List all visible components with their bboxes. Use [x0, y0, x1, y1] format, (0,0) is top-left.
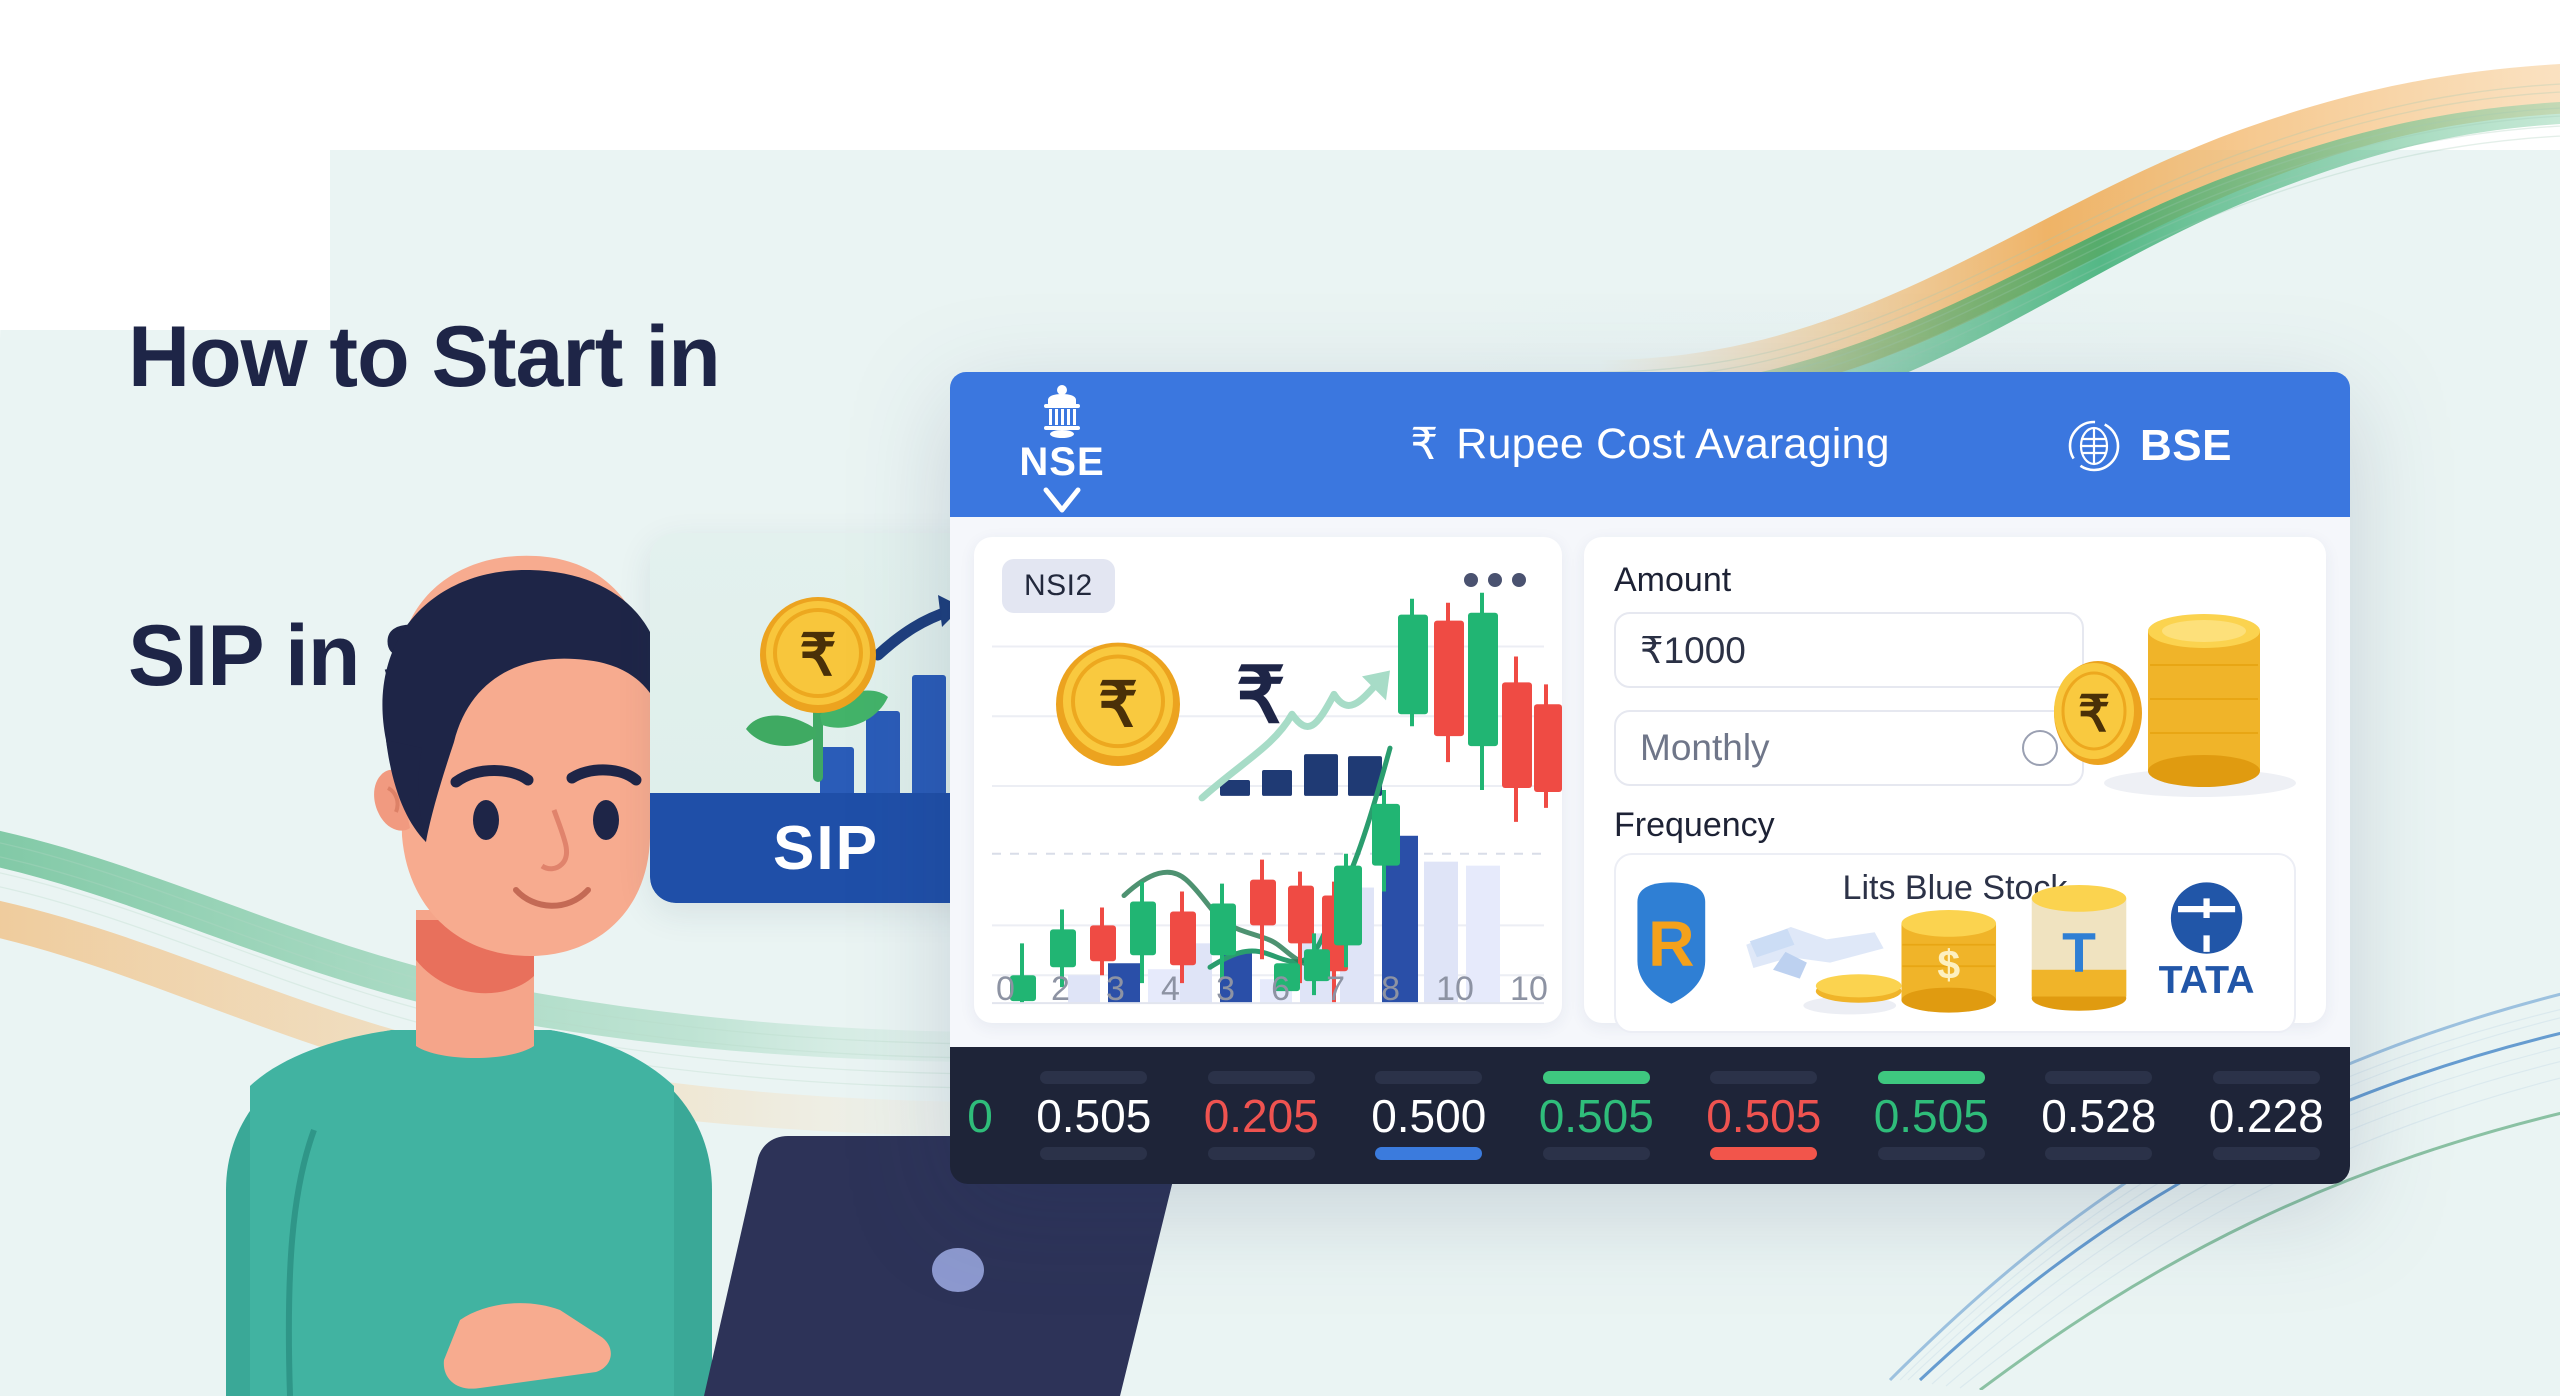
chart-card[interactable]: ₹ ₹ NSI2 023436781010	[974, 537, 1562, 1023]
svg-text:T: T	[2062, 922, 2096, 984]
ticker-value: 0.228	[2209, 1089, 2324, 1143]
chart-x-tick: 3	[1216, 970, 1235, 1009]
three-dots-menu-icon[interactable]	[1464, 573, 1526, 587]
ticker-item[interactable]: 0.505	[1680, 1047, 1848, 1184]
ticker-indicator-bottom	[961, 1147, 999, 1160]
reliance-shield-logo: R	[1637, 882, 1705, 1003]
svg-text:$: $	[1937, 942, 1960, 988]
rupee-coin-icon: ₹	[1056, 643, 1180, 766]
ticker-indicator-top	[1543, 1071, 1650, 1084]
app-header-title: Rupee Cost Avaraging	[1456, 420, 1890, 469]
handshake-icon	[1746, 927, 1883, 979]
ticker-item[interactable]: 0.500	[1345, 1047, 1513, 1184]
svg-text:R: R	[1648, 908, 1694, 980]
amount-value: ₹1000	[1640, 629, 1746, 672]
ticker-item[interactable]: 0.205	[1178, 1047, 1346, 1184]
ticker-indicator-bottom	[2213, 1147, 2320, 1160]
frequency-value: Monthly	[1640, 727, 1770, 769]
ticker-item[interactable]: 0.228	[2183, 1047, 2351, 1184]
svg-text:₹: ₹	[2078, 686, 2110, 742]
svg-text:₹: ₹	[1098, 671, 1137, 740]
stock-logos-illustration: R	[1616, 855, 2294, 1031]
ticker-item[interactable]: 0	[950, 1047, 1010, 1184]
svg-text:₹: ₹	[800, 623, 837, 688]
dollar-coin-stack-icon: $	[1803, 910, 1996, 1014]
ticker-indicator-top	[2213, 1071, 2320, 1084]
headline-line-1: How to Start in	[128, 308, 1011, 408]
ticker-value: 0.505	[1036, 1089, 1151, 1143]
chart-x-tick: 3	[1106, 970, 1125, 1009]
ticker-value: 0.505	[1539, 1089, 1654, 1143]
chart-x-tick: 7	[1326, 970, 1345, 1009]
chart-x-axis: 023436781010	[996, 970, 1548, 1009]
tata-logo: TATA	[2159, 882, 2255, 1002]
bse-label: BSE	[2140, 421, 2232, 471]
chart-x-tick: 8	[1381, 970, 1400, 1009]
ticker-indicator-top	[2045, 1071, 2152, 1084]
ticker-item[interactable]: 0.505	[1010, 1047, 1178, 1184]
blue-chip-stocks-box[interactable]: Lits Blue Stock R	[1614, 853, 2296, 1033]
sip-form-panel: Amount ₹1000 Monthly Frequency	[1584, 537, 2326, 1023]
ticker-indicator-top	[961, 1071, 999, 1084]
ticker-indicator-top	[1878, 1071, 1985, 1084]
rupee-symbol-icon: ₹	[1410, 419, 1438, 470]
ticker-value: 0.500	[1371, 1089, 1486, 1143]
ticker-indicator-bottom	[1710, 1147, 1817, 1160]
app-body: ₹ ₹ NSI2 023436781010 Amount ₹1000	[950, 517, 2350, 1047]
rupee-coin-icon: ₹	[760, 597, 876, 713]
ticker-indicator-bottom	[2045, 1147, 2152, 1160]
ticker-indicator-bottom	[1878, 1147, 1985, 1160]
bse-logo[interactable]: BSE	[2066, 418, 2232, 474]
ticker-indicator-top	[1710, 1071, 1817, 1084]
t-coin-stack-icon: T	[2032, 885, 2127, 1011]
ticker-indicator-bottom	[1543, 1147, 1650, 1160]
ticker-item[interactable]: 0.505	[1513, 1047, 1681, 1184]
chart-x-tick: 6	[1271, 970, 1290, 1009]
market-ticker-bar[interactable]: 00.5050.2050.5000.5050.5050.5050.5280.22…	[950, 1047, 2350, 1184]
chart-x-tick: 2	[1051, 970, 1070, 1009]
ticker-indicator-bottom	[1040, 1147, 1147, 1160]
ticker-item[interactable]: 0.528	[2015, 1047, 2183, 1184]
ticker-indicator-bottom	[1208, 1147, 1315, 1160]
ticker-indicator-top	[1208, 1071, 1315, 1084]
rupee-coin-stack-icon: ₹	[2000, 579, 2300, 799]
ticker-indicator-bottom	[1375, 1147, 1482, 1160]
ticker-item[interactable]: 0.505	[1848, 1047, 2016, 1184]
app-header: NSE ₹ Rupee Cost Avaraging BSE	[950, 372, 2350, 517]
frequency-label: Frequency	[1614, 806, 2296, 845]
bse-globe-icon	[2066, 418, 2122, 474]
ticker-indicator-top	[1375, 1071, 1482, 1084]
ticker-value: 0.505	[1706, 1089, 1821, 1143]
chart-x-tick: 10	[1510, 970, 1548, 1009]
chart-x-tick: 10	[1436, 970, 1474, 1009]
svg-text:TATA: TATA	[2159, 958, 2255, 1002]
chart-symbol-badge[interactable]: NSI2	[1002, 559, 1115, 613]
ticker-indicator-top	[1040, 1071, 1147, 1084]
ticker-value: 0.528	[2041, 1089, 2156, 1143]
ticker-value: 0	[967, 1089, 993, 1143]
ticker-value: 0.205	[1204, 1089, 1319, 1143]
chart-x-tick: 0	[996, 970, 1015, 1009]
app-window: NSE ₹ Rupee Cost Avaraging BSE	[950, 372, 2350, 1184]
sip-label: SIP	[773, 813, 879, 884]
chart-x-tick: 4	[1161, 970, 1180, 1009]
rupee-symbol-icon: ₹	[1236, 653, 1286, 739]
ticker-value: 0.505	[1874, 1089, 1989, 1143]
